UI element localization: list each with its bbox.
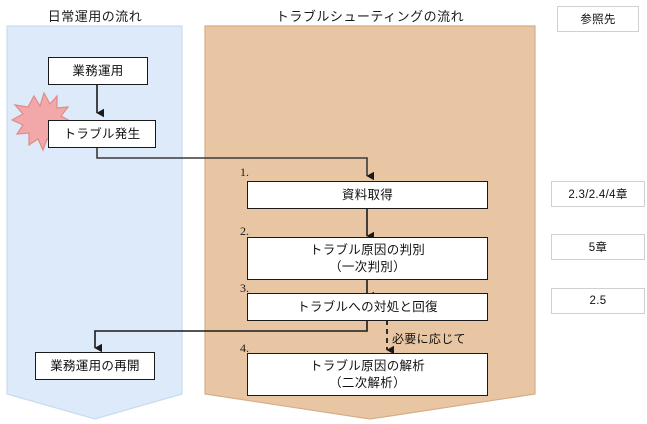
box-step-3-label-line1: トラブルへの対処と回復: [297, 299, 438, 316]
box-trouble-occurs[interactable]: トラブル発生: [48, 120, 156, 148]
reference-box-step-2[interactable]: 5章: [551, 234, 645, 260]
reference-box-step-1-label: 2.3/2.4/4章: [568, 186, 627, 202]
box-trouble-occurs-label: トラブル発生: [64, 126, 141, 143]
box-step-2-label-line1: トラブル原因の判別: [310, 242, 425, 259]
step-number-1: 1.: [240, 165, 249, 180]
box-step-1-label-line1: 資料取得: [342, 187, 393, 204]
box-step-1[interactable]: 資料取得: [247, 181, 488, 209]
box-step-3[interactable]: トラブルへの対処と回復: [247, 293, 488, 321]
box-operation-resume-label: 業務運用の再開: [50, 358, 140, 375]
flowchart-diagram: 日常運用の流れ トラブルシューティングの流れ: [0, 0, 647, 424]
reference-box-step-3-label: 2.5: [590, 295, 607, 307]
conditional-label: 必要に応じて: [392, 330, 466, 347]
box-step-4-label-line1: トラブル原因の解析: [310, 358, 425, 375]
reference-header: 参照先: [557, 6, 639, 32]
box-step-2-label-line2: （一次判別）: [329, 259, 406, 276]
box-step-4[interactable]: トラブル原因の解析 （二次解析）: [247, 353, 488, 396]
box-step-2[interactable]: トラブル原因の判別 （一次判別）: [247, 237, 488, 280]
reference-box-step-3[interactable]: 2.5: [551, 288, 645, 314]
box-operation[interactable]: 業務運用: [48, 57, 148, 85]
box-step-4-label-line2: （二次解析）: [329, 375, 406, 392]
reference-box-step-1[interactable]: 2.3/2.4/4章: [551, 181, 645, 207]
box-operation-label: 業務運用: [72, 63, 123, 80]
reference-header-label: 参照先: [580, 11, 615, 27]
reference-box-step-2-label: 5章: [589, 239, 608, 255]
box-operation-resume[interactable]: 業務運用の再開: [35, 352, 155, 380]
